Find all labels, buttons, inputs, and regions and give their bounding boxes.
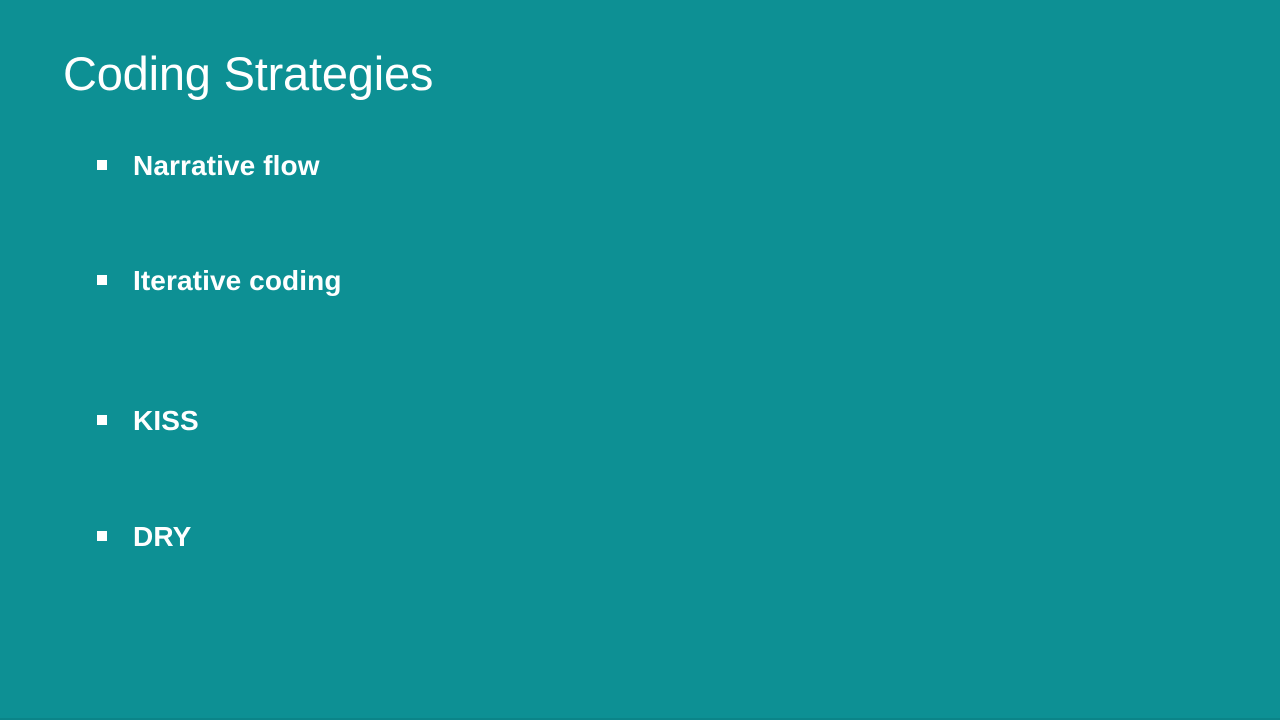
list-item-label: Narrative flow bbox=[133, 150, 320, 182]
square-bullet-icon bbox=[97, 415, 107, 425]
square-bullet-icon bbox=[97, 275, 107, 285]
list-item[interactable]: Iterative coding bbox=[97, 265, 342, 297]
square-bullet-icon bbox=[97, 531, 107, 541]
page-title: Coding Strategies bbox=[63, 45, 433, 103]
presentation-slide: Coding Strategies Narrative flow Iterati… bbox=[0, 0, 1280, 720]
list-item-label: KISS bbox=[133, 405, 199, 437]
list-item-label: DRY bbox=[133, 521, 191, 553]
list-item-label: Iterative coding bbox=[133, 265, 342, 297]
list-item[interactable]: Narrative flow bbox=[97, 150, 320, 182]
square-bullet-icon bbox=[97, 160, 107, 170]
list-item[interactable]: DRY bbox=[97, 521, 191, 553]
list-item[interactable]: KISS bbox=[97, 405, 199, 437]
